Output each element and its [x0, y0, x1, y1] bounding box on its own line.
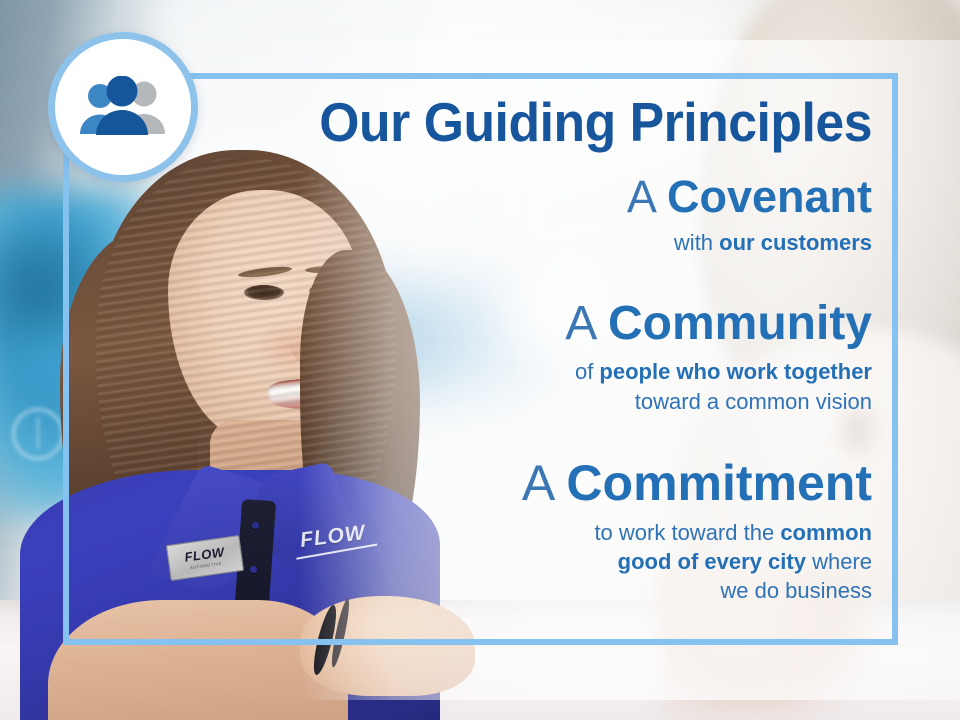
- principle-body: to work toward the common good of every …: [522, 518, 872, 606]
- principle-lead-word: A: [522, 455, 553, 511]
- body-span: toward a common vision: [635, 389, 872, 414]
- principle-body-line: to work toward the common: [522, 518, 872, 547]
- principle-community: A Community of people who work together …: [565, 299, 872, 416]
- body-span: of: [575, 359, 599, 384]
- principle-key-word: Community: [608, 297, 872, 350]
- poster: FLOW AUTOMOTIVE FLOW: [0, 0, 960, 720]
- principle-body-line: of people who work together: [565, 357, 872, 386]
- principle-lead-word: A: [627, 171, 655, 222]
- principle-lead-word: A: [565, 297, 594, 350]
- body-span: to work toward the: [594, 520, 780, 545]
- principle-key-word: Commitment: [566, 455, 872, 511]
- principle-body-line: toward a common vision: [565, 387, 872, 416]
- principle-key-word: Covenant: [667, 171, 872, 222]
- principle-body: with our customers: [627, 228, 872, 257]
- body-span-bold: our customers: [719, 230, 872, 255]
- body-span: with: [674, 230, 719, 255]
- principle-body-line: we do business: [522, 576, 872, 605]
- principle-heading: A Commitment: [522, 457, 872, 510]
- body-span: where: [806, 549, 872, 574]
- page-title: Our Guiding Principles: [112, 95, 872, 150]
- principle-body-line: good of every city where: [522, 547, 872, 576]
- principle-commitment: A Commitment to work toward the common g…: [522, 457, 872, 606]
- principle-heading: A Covenant: [627, 173, 872, 220]
- body-span-bold: common: [780, 520, 872, 545]
- principle-covenant: A Covenant with our customers: [627, 173, 872, 258]
- body-span: we do business: [720, 578, 872, 603]
- body-span-bold: good of every city: [618, 549, 806, 574]
- principle-body: of people who work together toward a com…: [565, 357, 872, 416]
- principle-heading: A Community: [565, 299, 872, 349]
- body-span-bold: people who work together: [599, 359, 872, 384]
- principle-body-line: with our customers: [627, 228, 872, 257]
- content-area: Our Guiding Principles A Covenant with o…: [63, 73, 898, 645]
